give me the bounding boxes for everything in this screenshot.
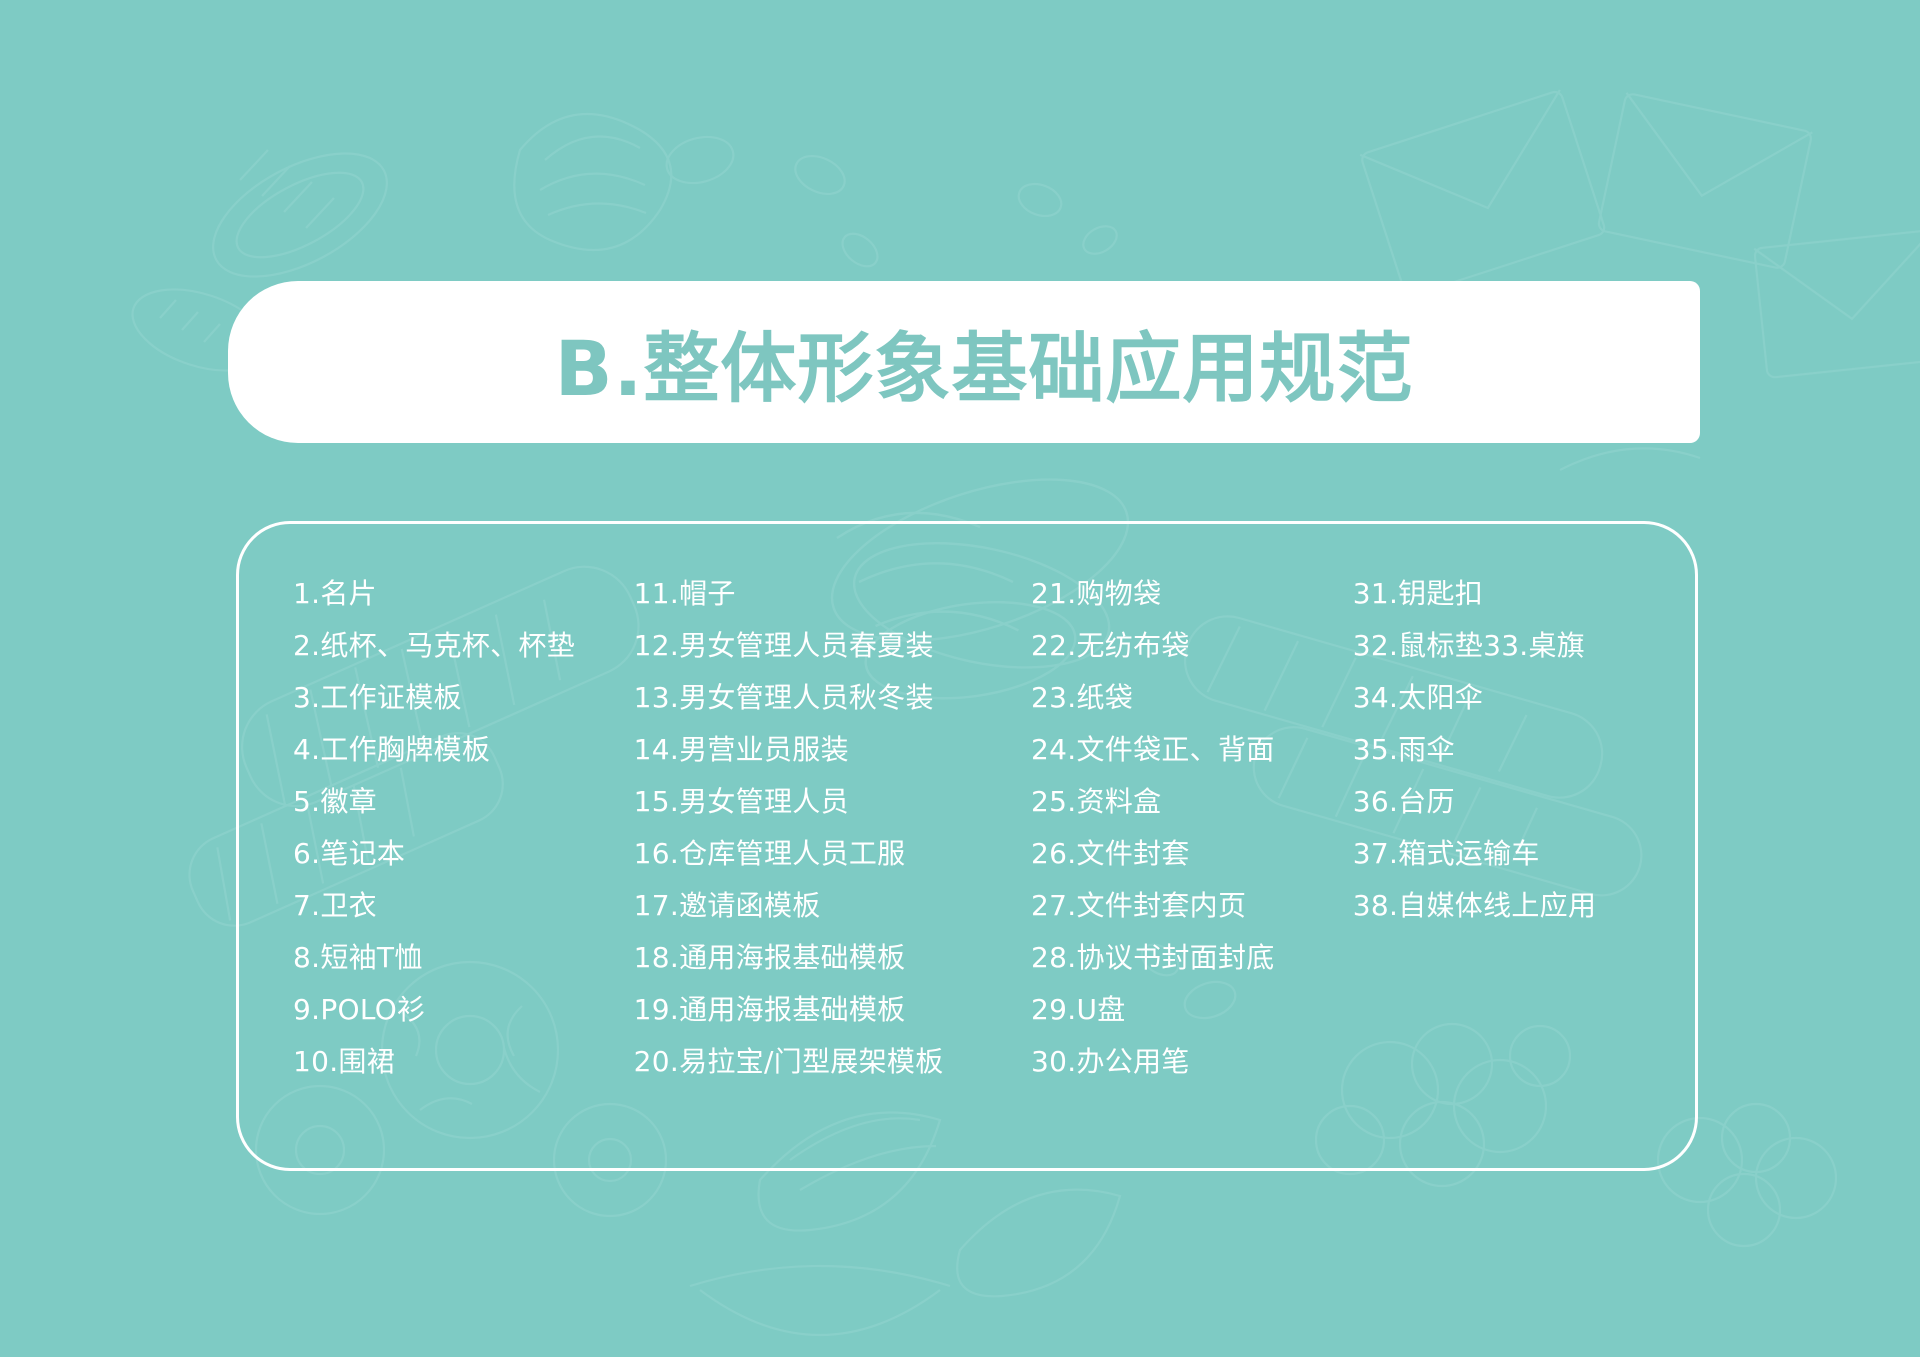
list-item: 29.U盘 (1031, 984, 1353, 1036)
contents-column-4: 31.钥匙扣 32.鼠标垫33.桌旗 34.太阳伞 35.雨伞 36.台历 37… (1353, 568, 1665, 1088)
list-item: 22.无纺布袋 (1031, 620, 1353, 672)
list-item: 27.文件封套内页 (1031, 880, 1353, 932)
list-item: 18.通用海报基础模板 (634, 932, 1031, 984)
list-item: 2.纸杯、马克杯、杯垫 (293, 620, 634, 672)
list-item: 12.男女管理人员春夏装 (634, 620, 1031, 672)
list-item: 11.帽子 (634, 568, 1031, 620)
list-item: 16.仓库管理人员工服 (634, 828, 1031, 880)
contents-column-1: 1.名片 2.纸杯、马克杯、杯垫 3.工作证模板 4.工作胸牌模板 5.徽章 6… (293, 568, 634, 1088)
list-item: 14.男营业员服装 (634, 724, 1031, 776)
list-item: 4.工作胸牌模板 (293, 724, 634, 776)
list-item: 32.鼠标垫33.桌旗 (1353, 620, 1665, 672)
list-item: 9.POLO衫 (293, 984, 634, 1036)
poster-page: B.整体形象基础应用规范 1.名片 2.纸杯、马克杯、杯垫 3.工作证模板 4.… (0, 0, 1920, 1357)
contents-columns: 1.名片 2.纸杯、马克杯、杯垫 3.工作证模板 4.工作胸牌模板 5.徽章 6… (293, 568, 1665, 1088)
contents-list-frame: 1.名片 2.纸杯、马克杯、杯垫 3.工作证模板 4.工作胸牌模板 5.徽章 6… (236, 521, 1698, 1171)
list-item: 26.文件封套 (1031, 828, 1353, 880)
header-band: B.整体形象基础应用规范 (228, 281, 1700, 443)
list-item: 37.箱式运输车 (1353, 828, 1665, 880)
list-item: 38.自媒体线上应用 (1353, 880, 1665, 932)
list-item: 6.笔记本 (293, 828, 634, 880)
list-item: 30.办公用笔 (1031, 1036, 1353, 1088)
list-item: 35.雨伞 (1353, 724, 1665, 776)
contents-column-3: 21.购物袋 22.无纺布袋 23.纸袋 24.文件袋正、背面 25.资料盒 2… (1031, 568, 1353, 1088)
list-item: 5.徽章 (293, 776, 634, 828)
list-item: 8.短袖T恤 (293, 932, 634, 984)
list-item: 21.购物袋 (1031, 568, 1353, 620)
list-item: 24.文件袋正、背面 (1031, 724, 1353, 776)
list-item: 3.工作证模板 (293, 672, 634, 724)
list-item: 13.男女管理人员秋冬装 (634, 672, 1031, 724)
list-item: 10.围裙 (293, 1036, 634, 1088)
list-item: 20.易拉宝/门型展架模板 (634, 1036, 1031, 1088)
list-item: 36.台历 (1353, 776, 1665, 828)
list-item: 23.纸袋 (1031, 672, 1353, 724)
list-item: 25.资料盒 (1031, 776, 1353, 828)
page-title: B.整体形象基础应用规范 (228, 307, 1700, 417)
contents-column-2: 11.帽子 12.男女管理人员春夏装 13.男女管理人员秋冬装 14.男营业员服… (634, 568, 1031, 1088)
list-item: 19.通用海报基础模板 (634, 984, 1031, 1036)
list-item: 28.协议书封面封底 (1031, 932, 1353, 984)
list-item: 31.钥匙扣 (1353, 568, 1665, 620)
list-item: 15.男女管理人员 (634, 776, 1031, 828)
list-item: 7.卫衣 (293, 880, 634, 932)
list-item: 34.太阳伞 (1353, 672, 1665, 724)
list-item: 17.邀请函模板 (634, 880, 1031, 932)
list-item: 1.名片 (293, 568, 634, 620)
